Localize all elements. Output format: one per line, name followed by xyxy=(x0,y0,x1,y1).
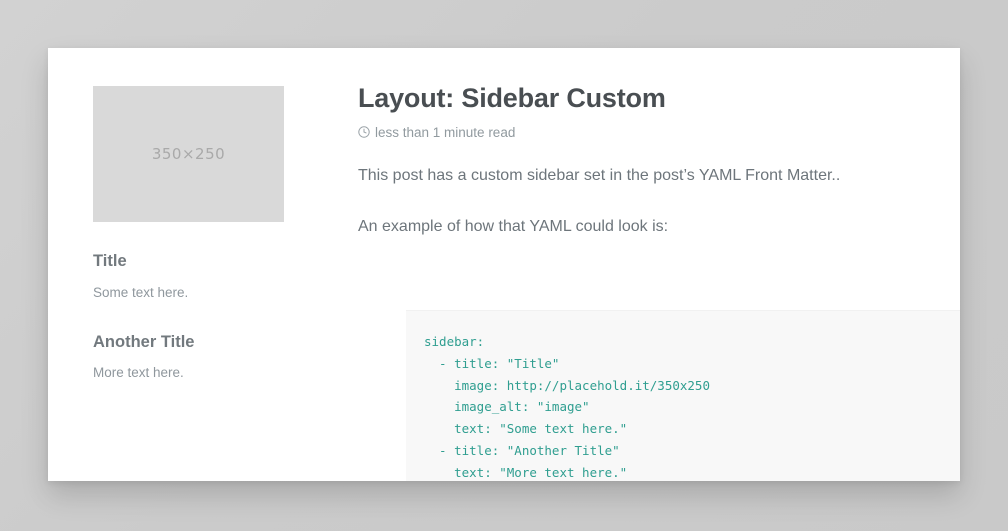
sidebar-block-title: Title Some text here. xyxy=(93,252,284,303)
code-content: sidebar: - title: "Title" image: http://… xyxy=(406,311,960,481)
page-title: Layout: Sidebar Custom xyxy=(358,82,960,116)
read-time-label: less than 1 minute read xyxy=(375,125,515,140)
sidebar-placeholder-label: 350×250 xyxy=(152,145,225,163)
code-line: - title: "Another Title" xyxy=(424,440,960,462)
card-inner: 350×250 Title Some text here. Another Ti… xyxy=(48,48,960,481)
article-body: Layout: Sidebar Custom less than 1 minut… xyxy=(358,82,960,239)
sidebar-placeholder-image: 350×250 xyxy=(93,86,284,222)
code-line: - title: "Title" xyxy=(424,353,960,375)
page-background: 350×250 Title Some text here. Another Ti… xyxy=(0,0,1008,531)
code-line: text: "Some text here." xyxy=(424,418,960,440)
article-meta: less than 1 minute read xyxy=(358,125,960,140)
sidebar-text-0: Some text here. xyxy=(93,284,284,303)
code-line: image: http://placehold.it/350x250 xyxy=(424,375,960,397)
article-paragraph-1: An example of how that YAML could look i… xyxy=(358,215,960,239)
sidebar-block-another-title: Another Title More text here. xyxy=(93,333,284,384)
code-line: text: "More text here." xyxy=(424,462,960,481)
sidebar-heading-0: Title xyxy=(93,252,284,272)
custom-sidebar: 350×250 Title Some text here. Another Ti… xyxy=(93,86,293,383)
code-line: sidebar: xyxy=(424,331,960,353)
content-card: 350×250 Title Some text here. Another Ti… xyxy=(48,48,960,481)
article-paragraph-0: This post has a custom sidebar set in th… xyxy=(358,164,960,188)
sidebar-heading-1: Another Title xyxy=(93,333,284,353)
code-line: image_alt: "image" xyxy=(424,396,960,418)
clock-icon xyxy=(358,126,370,138)
sidebar-text-1: More text here. xyxy=(93,364,284,383)
code-lines: sidebar: - title: "Title" image: http://… xyxy=(424,331,960,481)
code-block-yaml: sidebar: - title: "Title" image: http://… xyxy=(406,310,960,481)
